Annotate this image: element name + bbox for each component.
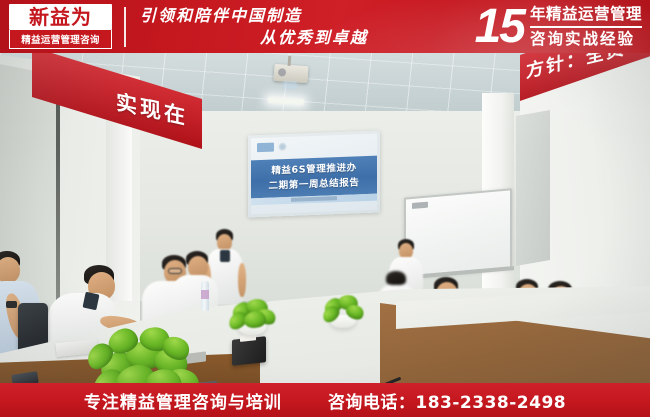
glasses-icon bbox=[168, 268, 182, 274]
collar bbox=[220, 250, 230, 262]
slide-logo-icon bbox=[257, 143, 274, 153]
header-slogan: 引领和陪伴中国制造 从优秀到卓越 bbox=[136, 5, 376, 49]
slide-logo-dot bbox=[279, 143, 286, 150]
page-root: 新益为 精益运营管理咨询 引领和陪伴中国制造 从优秀到卓越 15 年精益运营管理… bbox=[0, 0, 650, 417]
slogan-line-1: 引领和陪伴中国制造 bbox=[136, 5, 376, 27]
brand-logo[interactable]: 新益为 精益运营管理咨询 bbox=[9, 4, 112, 49]
meeting-room-photo: 实现在 方针：全员 精益6S管理推进办 二期第一周总结报告 bbox=[0, 53, 650, 383]
years-number: 15 bbox=[475, 5, 530, 49]
slogan-line-2: 从优秀到卓越 bbox=[136, 27, 376, 49]
wall-banner-left-text: 实现在 bbox=[116, 86, 188, 132]
header-banner: 新益为 精益运营管理咨询 引领和陪伴中国制造 从优秀到卓越 15 年精益运营管理… bbox=[0, 0, 650, 53]
left-wall-edge bbox=[56, 85, 60, 318]
footer-phone[interactable]: 咨询电话：183-2338-2498 bbox=[328, 388, 566, 413]
logo-mark: 新益为 bbox=[9, 4, 112, 30]
slide-title-line-2: 二期第一周总结报告 bbox=[269, 175, 360, 193]
logo-brand-text: 新益为 bbox=[29, 7, 92, 28]
hair bbox=[386, 271, 406, 285]
projection-slide: 精益6S管理推进办 二期第一周总结报告 bbox=[251, 134, 377, 215]
door bbox=[516, 110, 550, 266]
head bbox=[0, 257, 20, 283]
logo-tagline-bar: 精益运营管理咨询 bbox=[9, 30, 112, 49]
footer-slogan: 专注精益管理咨询与培训 bbox=[84, 388, 282, 413]
years-line-1: 年精益运营管理 bbox=[530, 4, 642, 28]
tissue-box bbox=[232, 336, 266, 366]
leaf bbox=[244, 311, 266, 328]
header-divider bbox=[124, 7, 126, 47]
years-text-block: 年精益运营管理 咨询实战经验 bbox=[530, 4, 642, 50]
water-bottle bbox=[201, 281, 209, 311]
projector-beam bbox=[283, 81, 297, 89]
footer-banner: 专注精益管理咨询与培训 咨询电话：183-2338-2498 bbox=[0, 383, 650, 417]
header-years-block: 15 年精益运营管理 咨询实战经验 bbox=[475, 4, 650, 50]
slide-title-band: 精益6S管理推进办 二期第一周总结报告 bbox=[251, 156, 377, 199]
years-line-2: 咨询实战经验 bbox=[530, 28, 642, 50]
logo-tagline-text: 精益运营管理咨询 bbox=[21, 35, 99, 46]
